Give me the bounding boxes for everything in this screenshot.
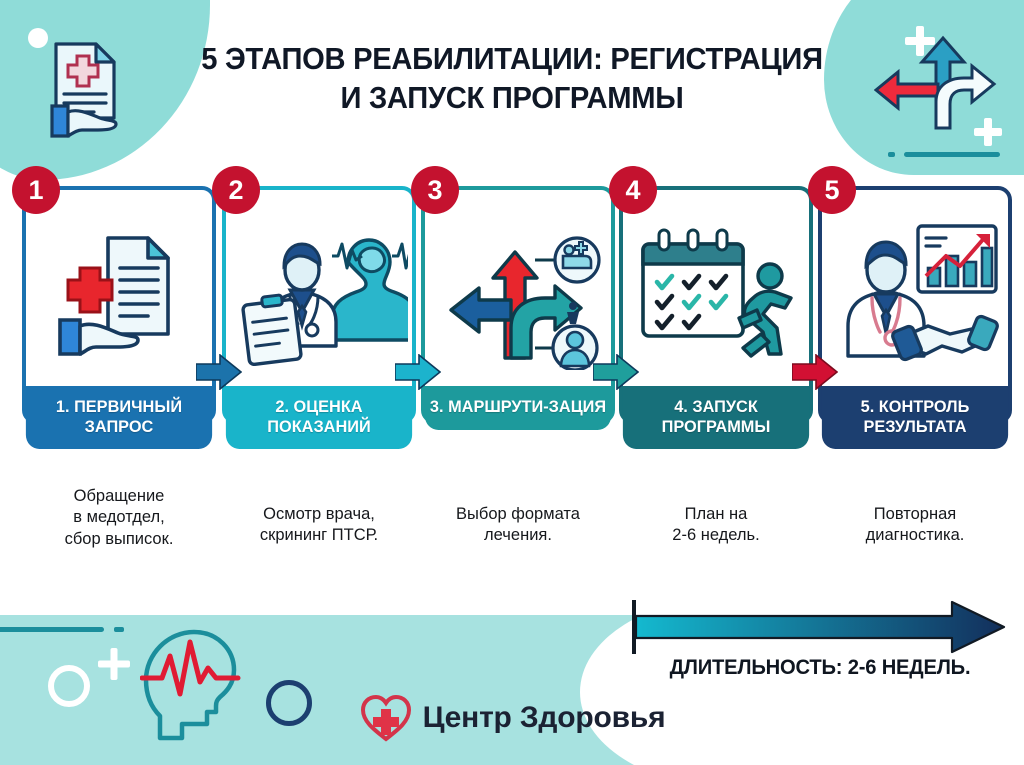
hand-holding-medical-document-icon xyxy=(52,224,192,364)
step-4[interactable]: 4 xyxy=(619,186,813,424)
step-5-number-badge: 5 xyxy=(808,166,856,214)
step-3-description: Выбор формата лечения. xyxy=(405,504,631,547)
calendar-checkmarks-runner-icon xyxy=(635,226,807,366)
arrow-step2-to-step3 xyxy=(395,354,441,390)
doctor-clipboard-patient-brain-icon xyxy=(240,226,408,366)
step-3-card: 3 3. МАРШРУТИ-ЗАЦИЯ xyxy=(421,186,615,424)
step-4-card: 4 xyxy=(619,186,813,424)
step-4-description: План на 2-6 недель. xyxy=(603,504,829,547)
step-1-card: 1 1. ПЕРВИЧНЫЙ ЗАПРОС xyxy=(22,186,216,424)
step-5-description: Повторная диагностика. xyxy=(802,504,1024,547)
plus-icon xyxy=(974,118,1002,146)
step-3-label: 3. МАРШРУТИ-ЗАЦИЯ xyxy=(425,386,611,430)
duration-caption: ДЛИТЕЛЬНОСТЬ: 2-6 НЕДЕЛЬ. xyxy=(638,656,1003,680)
step-1[interactable]: 1 1. ПЕРВИЧНЫЙ ЗАПРОС Обращение в медотд… xyxy=(22,186,216,424)
three-way-arrows-routing-icon xyxy=(443,220,603,370)
bottom-left-rule xyxy=(0,627,104,632)
step-4-label: 4. ЗАПУСК ПРОГРАММЫ xyxy=(623,386,809,449)
arrow-step4-to-step5 xyxy=(792,354,838,390)
step-1-label: 1. ПЕРВИЧНЫЙ ЗАПРОС xyxy=(26,386,212,449)
steps-row: 1 1. ПЕРВИЧНЫЙ ЗАПРОС Обращение в медотд… xyxy=(0,186,1024,586)
step-5-card: 5 xyxy=(818,186,1012,424)
step-3[interactable]: 3 3. МАРШРУТИ-ЗАЦИЯ xyxy=(421,186,615,424)
duration-section: ДЛИТЕЛЬНОСТЬ: 2-6 НЕДЕЛЬ. xyxy=(630,600,1010,680)
top-right-rule xyxy=(904,152,1000,157)
step-2[interactable]: 2 xyxy=(222,186,416,424)
step-2-label: 2. ОЦЕНКА ПОКАЗАНИЙ xyxy=(226,386,412,449)
page-title: 5 ЭТАПОВ РЕАБИЛИТАЦИИ: РЕГИСТРАЦИЯ И ЗАП… xyxy=(31,40,994,118)
step-5[interactable]: 5 xyxy=(818,186,1012,424)
step-2-card: 2 xyxy=(222,186,416,424)
arrow-step1-to-step2 xyxy=(196,354,242,390)
step-2-description: Осмотр врача, скрининг ПТСР. xyxy=(206,504,432,547)
plus-icon xyxy=(98,648,130,680)
brand-footer: Центр Здоровья xyxy=(0,693,1024,743)
title-line-2: И ЗАПУСК ПРОГРАММЫ xyxy=(31,79,994,118)
step-4-number-badge: 4 xyxy=(609,166,657,214)
doctor-chart-handshake-icon xyxy=(834,218,1004,372)
title-line-1: 5 ЭТАПОВ РЕАБИЛИТАЦИИ: РЕГИСТРАЦИЯ xyxy=(31,40,994,79)
step-1-number-badge: 1 xyxy=(12,166,60,214)
infographic-canvas: 5 ЭТАПОВ РЕАБИЛИТАЦИИ: РЕГИСТРАЦИЯ И ЗАП… xyxy=(0,0,1024,765)
brand-name: Центр Здоровья xyxy=(423,701,666,735)
arrow-step3-to-step4 xyxy=(593,354,639,390)
heart-with-medical-cross-icon xyxy=(359,693,413,743)
step-3-number-badge: 3 xyxy=(411,166,459,214)
step-2-number-badge: 2 xyxy=(212,166,260,214)
step-5-label: 5. КОНТРОЛЬ РЕЗУЛЬТАТА xyxy=(822,386,1008,449)
duration-arrow xyxy=(630,600,1010,654)
step-1-description: Обращение в медотдел, сбор выписок. xyxy=(6,486,232,550)
